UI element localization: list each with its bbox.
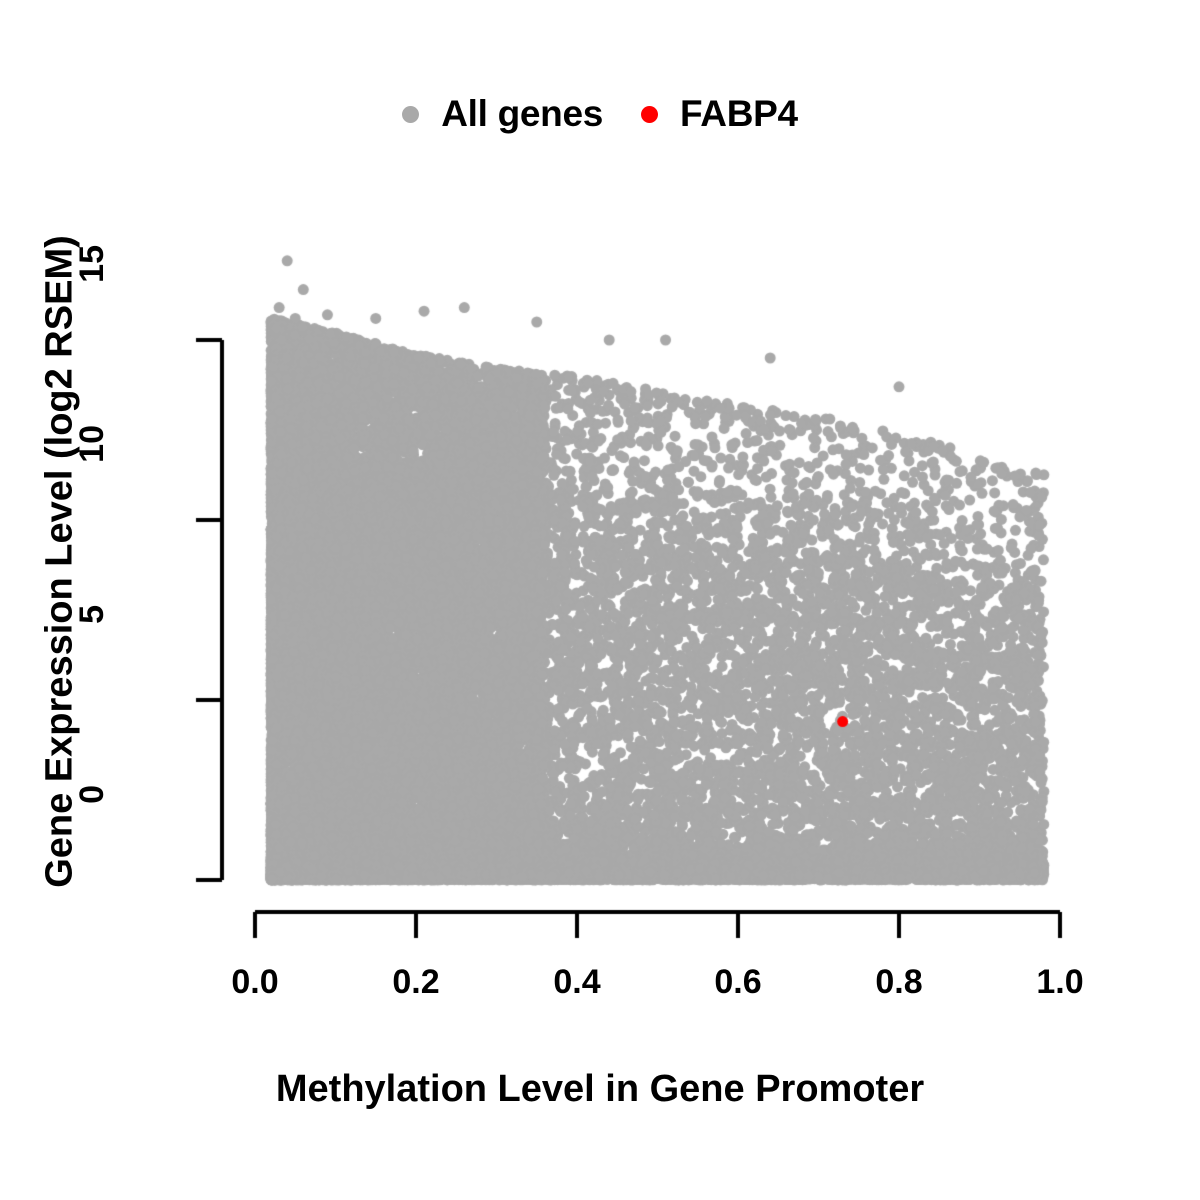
legend-item-fabp4[interactable]: FABP4 — [641, 93, 798, 135]
legend-marker-fabp4-icon — [641, 106, 658, 123]
legend-marker-all-genes-icon — [402, 106, 419, 123]
x-tick-label-5: 1.0 — [1036, 963, 1083, 1002]
x-tick-label-2: 0.4 — [553, 963, 600, 1002]
y-tick-label-2: 10 — [73, 425, 112, 615]
x-tick-label-1: 0.2 — [392, 963, 439, 1002]
x-tick-label-0: 0.0 — [231, 963, 278, 1002]
y-tick-label-1: 5 — [73, 605, 112, 795]
y-tick-label-0: 0 — [73, 785, 112, 975]
legend-label-fabp4: FABP4 — [680, 93, 798, 135]
legend-item-all-genes[interactable]: All genes — [402, 93, 603, 135]
legend-label-all-genes: All genes — [441, 93, 603, 135]
x-tick-label-3: 0.6 — [714, 963, 761, 1002]
plot-area[interactable] — [0, 0, 1200, 1200]
scatter-plot-figure: All genes FABP4 Gene Expression Level (l… — [0, 0, 1200, 1200]
x-axis-title: Methylation Level in Gene Promoter — [0, 1068, 1200, 1111]
legend: All genes FABP4 — [0, 86, 1200, 142]
y-tick-label-3: 15 — [73, 245, 112, 435]
x-tick-label-4: 0.8 — [875, 963, 922, 1002]
